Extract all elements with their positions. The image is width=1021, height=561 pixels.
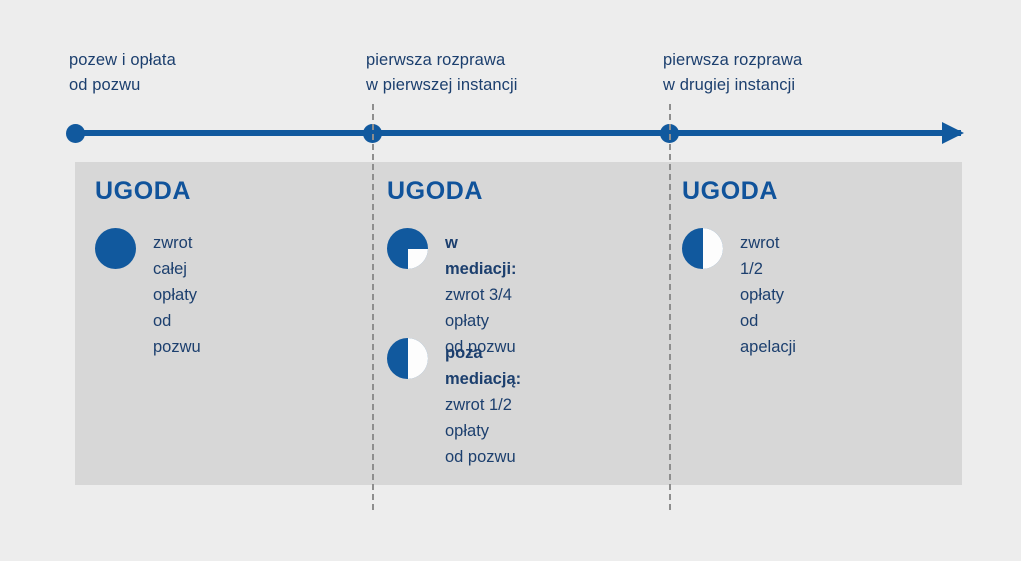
entry-zwrot-calej-oplaty: zwrot całej opłaty od pozwu bbox=[95, 228, 201, 360]
timeline-axis-line bbox=[75, 130, 961, 136]
entry-body-zwrot-polowy-od-apelacji: zwrot 1/2 opłaty od apelacji bbox=[740, 234, 796, 356]
entry-heading-poza-mediacja: poza mediacją: bbox=[445, 340, 521, 392]
pie-chart-icon-1-2 bbox=[682, 228, 723, 269]
pie-chart-icon-3-4 bbox=[387, 228, 428, 269]
entry-text-zwrot-polowy-od-apelacji: zwrot 1/2 opłaty od apelacji bbox=[740, 228, 796, 360]
entry-text-poza-mediacja: poza mediacją:zwrot 1/2 opłaty od pozwu bbox=[445, 338, 521, 470]
entry-heading-w-mediacji: w mediacji: bbox=[445, 230, 517, 282]
infographic-canvas: pozew i opłata od pozwupierwsza rozprawa… bbox=[0, 0, 1021, 561]
timeline-label-pozew: pozew i opłata od pozwu bbox=[69, 48, 176, 98]
timeline-label-pierwsza-instancja: pierwsza rozprawa w pierwszej instancji bbox=[366, 48, 518, 98]
entry-text-zwrot-calej-oplaty: zwrot całej opłaty od pozwu bbox=[153, 228, 201, 360]
timeline-divider-pierwsza-instancja bbox=[372, 104, 374, 510]
timeline-arrow-icon bbox=[942, 122, 964, 144]
timeline-divider-druga-instancja bbox=[669, 104, 671, 510]
column-title-col-2: UGODA bbox=[387, 179, 483, 204]
entry-body-poza-mediacja: zwrot 1/2 opłaty od pozwu bbox=[445, 396, 516, 466]
pie-chart-icon-1 bbox=[95, 228, 136, 269]
column-title-col-1: UGODA bbox=[95, 179, 191, 204]
entry-body-zwrot-calej-oplaty: zwrot całej opłaty od pozwu bbox=[153, 234, 201, 356]
pie-chart-icon-1-2 bbox=[387, 338, 428, 379]
entry-zwrot-polowy-od-apelacji: zwrot 1/2 opłaty od apelacji bbox=[682, 228, 796, 360]
timeline-label-druga-instancja: pierwsza rozprawa w drugiej instancji bbox=[663, 48, 802, 98]
timeline-dot-pozew bbox=[66, 124, 85, 143]
column-title-col-3: UGODA bbox=[682, 179, 778, 204]
entry-poza-mediacja: poza mediacją:zwrot 1/2 opłaty od pozwu bbox=[387, 338, 521, 470]
